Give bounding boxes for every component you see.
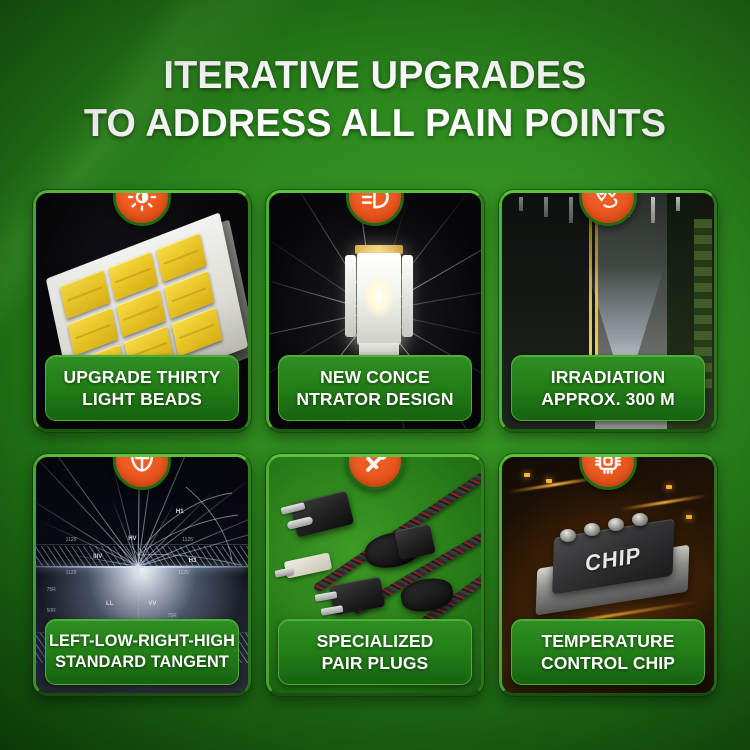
card-label-line-1: SPECIALIZED [317, 630, 434, 652]
card-label-plate: LEFT-LOW-RIGHT-HIGH STANDARD TANGENT [45, 619, 239, 685]
card-label-line-1: NEW CONCE [320, 366, 430, 388]
card-label-line-2: LIGHT BEADS [82, 388, 202, 410]
card-label-plate: NEW CONCE NTRATOR DESIGN [278, 355, 472, 421]
chip-label: CHIP [552, 537, 673, 583]
card-label-line-1: LEFT-LOW-RIGHT-HIGH [49, 631, 235, 652]
feature-card-new-concentrator-design[interactable]: NEW CONCE NTRATOR DESIGN [266, 190, 484, 432]
card-label-line-1: TEMPERATURE [542, 630, 675, 652]
card-label-plate: TEMPERATURE CONTROL CHIP [511, 619, 705, 685]
card-label-line-1: IRRADIATION [551, 366, 666, 388]
card-label-line-1: UPGRADE THIRTY [64, 366, 221, 388]
product-feature-infographic: ITERATIVE UPGRADES TO ADDRESS ALL PAIN P… [0, 0, 750, 750]
feature-card-upgrade-thirty-light-beads[interactable]: UPGRADE THIRTY LIGHT BEADS [33, 190, 251, 432]
page-title: ITERATIVE UPGRADES TO ADDRESS ALL PAIN P… [11, 52, 739, 147]
card-label-line-2: APPROX. 300 M [541, 388, 675, 410]
card-label-line-2: PAIR PLUGS [322, 652, 429, 674]
feature-card-irradiation-300m[interactable]: IRRADIATION APPROX. 300 M [499, 190, 717, 432]
card-label-line-2: CONTROL CHIP [541, 652, 675, 674]
feature-card-temperature-control-chip[interactable]: CHIP [499, 454, 717, 696]
feature-card-specialized-pair-plugs[interactable]: SPECIALIZED PAIR PLUGS [266, 454, 484, 696]
card-label-plate: SPECIALIZED PAIR PLUGS [278, 619, 472, 685]
title-line-2: TO ADDRESS ALL PAIN POINTS [11, 100, 739, 148]
card-label-line-2: NTRATOR DESIGN [296, 388, 453, 410]
card-label-line-2: STANDARD TANGENT [55, 652, 229, 673]
feature-card-left-low-right-high-tangent[interactable]: HV H1 IIIV H3 LL VV L 1125' 1125' 1125' … [33, 454, 251, 696]
card-label-plate: IRRADIATION APPROX. 300 M [511, 355, 705, 421]
feature-card-grid: UPGRADE THIRTY LIGHT BEADS [33, 190, 717, 696]
card-label-plate: UPGRADE THIRTY LIGHT BEADS [45, 355, 239, 421]
title-line-1: ITERATIVE UPGRADES [163, 54, 586, 97]
